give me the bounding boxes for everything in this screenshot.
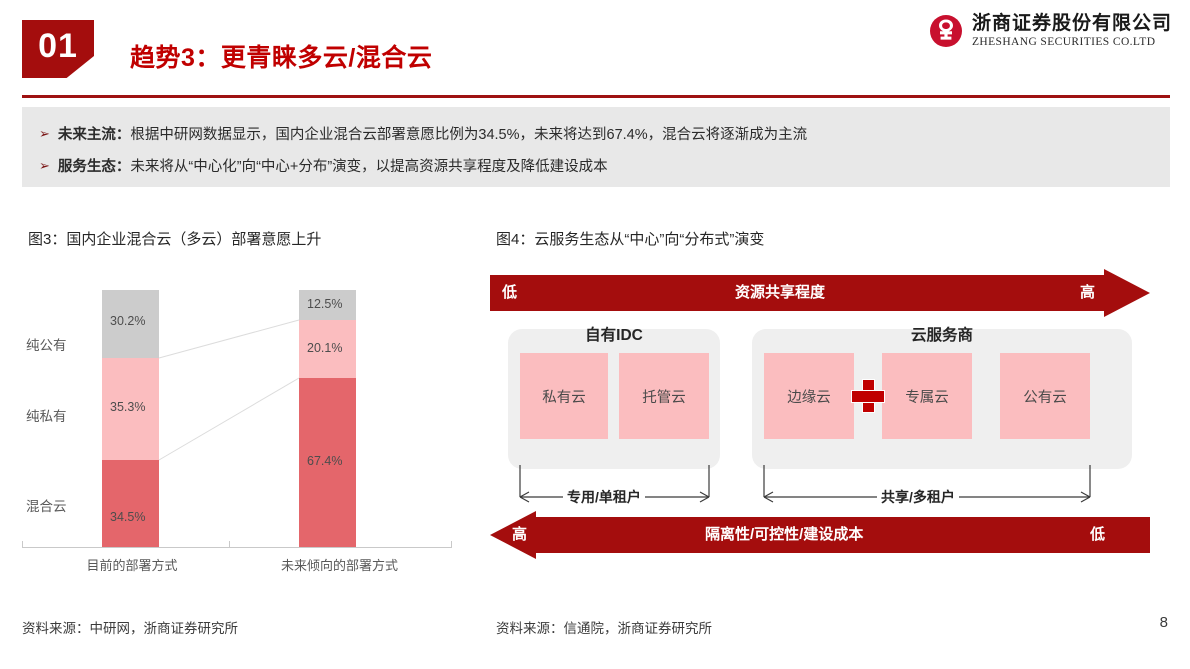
chart-row-label-public: 纯公有 [26,334,67,354]
bar-future-deployment: 12.5% 20.1% 67.4% [299,290,356,547]
chart-row-label-private: 纯私有 [26,405,67,425]
bracket-label-shared: 共享/多租户 [877,487,959,507]
bullet-body-1: 未来将从“中心化”向“中心+分布”演变，以提高资源共享程度及降低建设成本 [130,155,607,176]
bullet-body-0: 根据中研网数据显示，国内企业混合云部署意愿比例为34.5%，未来将达到67.4%… [130,123,807,144]
segment-value-hybrid-current: 34.5% [110,510,145,524]
stacked-bar-chart: 纯公有 纯私有 混合云 30.2% 35.3% 34.5% 12.5% 20.1… [22,290,452,580]
segment-value-public-future: 12.5% [307,297,342,311]
summary-panel: ➢ 未来主流： 根据中研网数据显示，国内企业混合云部署意愿比例为34.5%，未来… [22,107,1170,187]
source-note-right: 资料来源：信通院，浙商证券研究所 [496,617,712,637]
card-dedicated-cloud: 专属云 [882,353,972,439]
x-axis-label-future: 未来倾向的部署方式 [267,555,412,574]
header-divider [22,95,1170,98]
top-band-left-label: 低 [502,275,517,311]
company-logo: 浙商证券股份有限公司 ZHESHANG SECURITIES CO.LTD [929,14,1172,48]
summary-bullet-0: ➢ 未来主流： 根据中研网数据显示，国内企业混合云部署意愿比例为34.5%，未来… [39,123,807,144]
chart-row-label-hybrid: 混合云 [26,495,67,515]
figure3-caption: 图3：国内企业混合云（多云）部署意愿上升 [28,228,321,249]
card-hosted-cloud: 托管云 [619,353,709,439]
slide-header: 01 趋势3：更青睐多云/混合云 浙商证券股份有限公司 ZHESHANG SEC… [0,0,1190,96]
segment-value-hybrid-future: 67.4% [307,454,342,468]
top-band-center-label: 资源共享程度 [735,275,825,311]
group-title-cloud-provider: 云服务商 [752,323,1132,345]
logo-text: 浙商证券股份有限公司 ZHESHANG SECURITIES CO.LTD [972,14,1172,48]
summary-bullet-1: ➢ 服务生态： 未来将从“中心化”向“中心+分布”演变，以提高资源共享程度及降低… [39,155,608,176]
chart-x-axis [22,547,452,548]
segment-private-future: 20.1% [299,320,356,378]
segment-hybrid-future: 67.4% [299,378,356,547]
segment-public-future: 12.5% [299,290,356,320]
segment-private-current: 35.3% [102,358,159,460]
figure4-caption: 图4：云服务生态从“中心”向“分布式”演变 [496,228,764,249]
segment-value-private-current: 35.3% [110,400,145,414]
segment-value-private-future: 20.1% [307,341,342,355]
axis-tick-mid [229,541,230,548]
page-number: 8 [1160,614,1168,631]
bottom-band-right-label: 低 [1090,517,1105,553]
section-number-badge: 01 [22,20,94,78]
bottom-arrow-band: 高 隔离性/可控性/建设成本 低 [490,517,1150,553]
axis-tick-start [22,541,23,548]
plus-icon [851,379,885,413]
card-private-cloud: 私有云 [520,353,608,439]
bottom-band-center-label: 隔离性/可控性/建设成本 [705,517,863,553]
segment-public-current: 30.2% [102,290,159,358]
source-note-left: 资料来源：中研网，浙商证券研究所 [22,617,238,637]
x-axis-label-current: 目前的部署方式 [72,555,192,574]
group-title-own-idc: 自有IDC [508,323,720,345]
card-edge-cloud: 边缘云 [764,353,854,439]
page-title: 趋势3：更青睐多云/混合云 [130,38,432,74]
bullet-arrow-icon: ➢ [39,158,50,174]
bullet-lead-1: 服务生态： [58,155,131,176]
bar-current-deployment: 30.2% 35.3% 34.5% [102,290,159,547]
stack-connector-lines [22,290,452,580]
bullet-arrow-icon: ➢ [39,126,50,142]
logo-company-name-cn: 浙商证券股份有限公司 [972,14,1172,35]
bracket-label-dedicated: 专用/单租户 [563,487,645,507]
zheshang-logo-icon [929,14,963,48]
top-arrow-band: 低 资源共享程度 高 [490,275,1150,311]
cloud-ecosystem-diagram: 低 资源共享程度 高 自有IDC 私有云 托管云 专用/单租户 云服务商 边缘云… [490,275,1150,565]
card-public-cloud: 公有云 [1000,353,1090,439]
segment-value-public-current: 30.2% [110,314,145,328]
logo-company-name-en: ZHESHANG SECURITIES CO.LTD [972,36,1155,48]
top-band-right-label: 高 [1080,275,1095,311]
bottom-band-left-label: 高 [512,517,527,553]
top-arrow-head-right-icon [1104,269,1150,317]
bullet-lead-0: 未来主流： [58,123,131,144]
axis-tick-end [451,541,452,548]
segment-hybrid-current: 34.5% [102,460,159,547]
